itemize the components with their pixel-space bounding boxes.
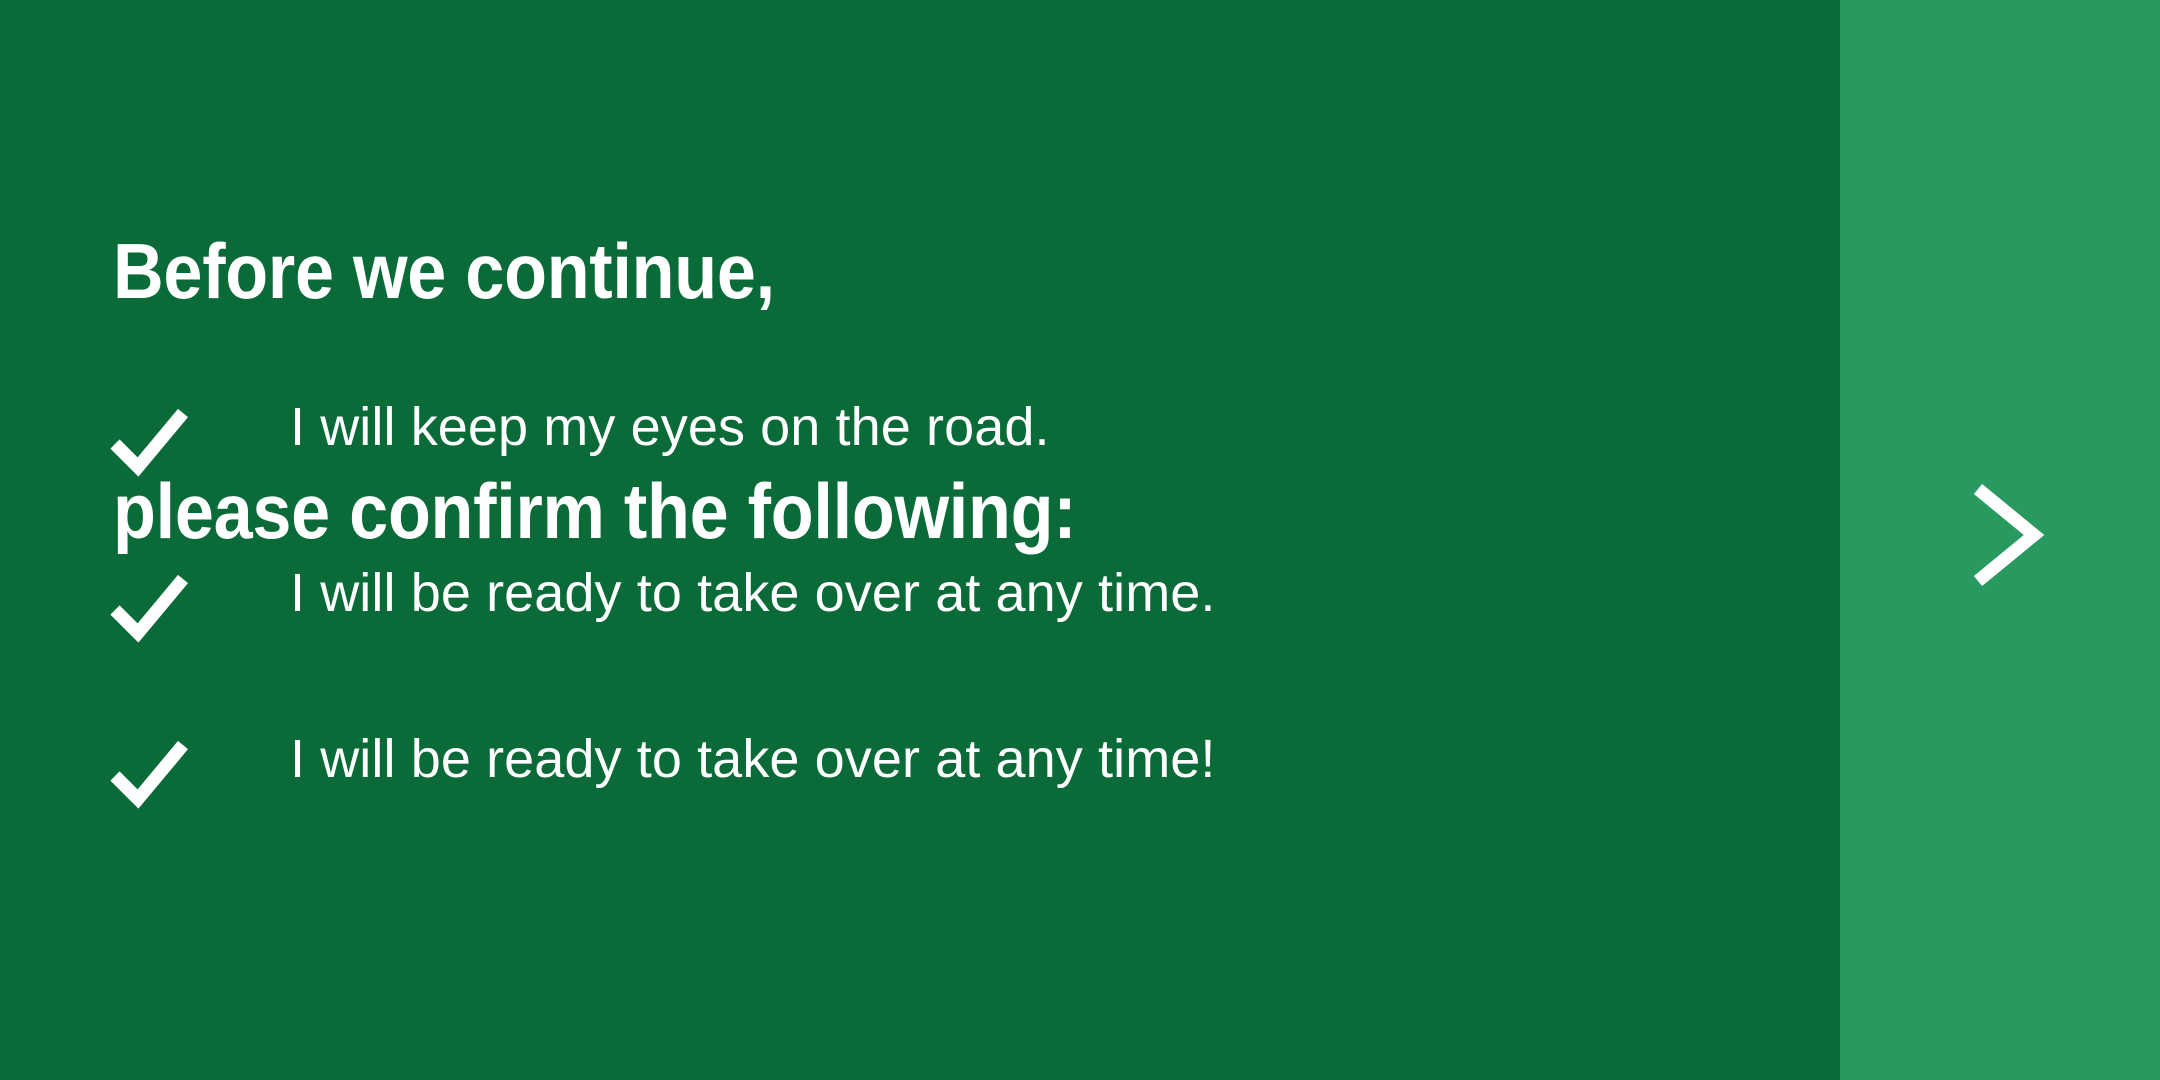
confirmation-checklist: I will keep my eyes on the road. I will …	[113, 396, 1713, 894]
next-button[interactable]	[1840, 0, 2160, 1080]
checklist-item-label: I will keep my eyes on the road.	[290, 396, 1050, 458]
checkmark-icon	[113, 572, 185, 648]
checklist-item[interactable]: I will be ready to take over at any time…	[113, 728, 1713, 894]
checkmark-icon	[113, 738, 185, 814]
checklist-item[interactable]: I will keep my eyes on the road.	[113, 396, 1713, 562]
content-column: Before we continue, please confirm the f…	[113, 0, 1813, 1080]
checklist-item[interactable]: I will be ready to take over at any time…	[113, 562, 1713, 728]
checkmark-icon	[113, 406, 185, 482]
checklist-item-label: I will be ready to take over at any time…	[290, 728, 1216, 790]
checklist-item-label: I will be ready to take over at any time…	[290, 562, 1216, 624]
confirmation-screen: Before we continue, please confirm the f…	[0, 0, 2160, 1080]
chevron-right-icon	[1968, 483, 2044, 587]
page-title-line-1: Before we continue,	[113, 232, 1076, 310]
